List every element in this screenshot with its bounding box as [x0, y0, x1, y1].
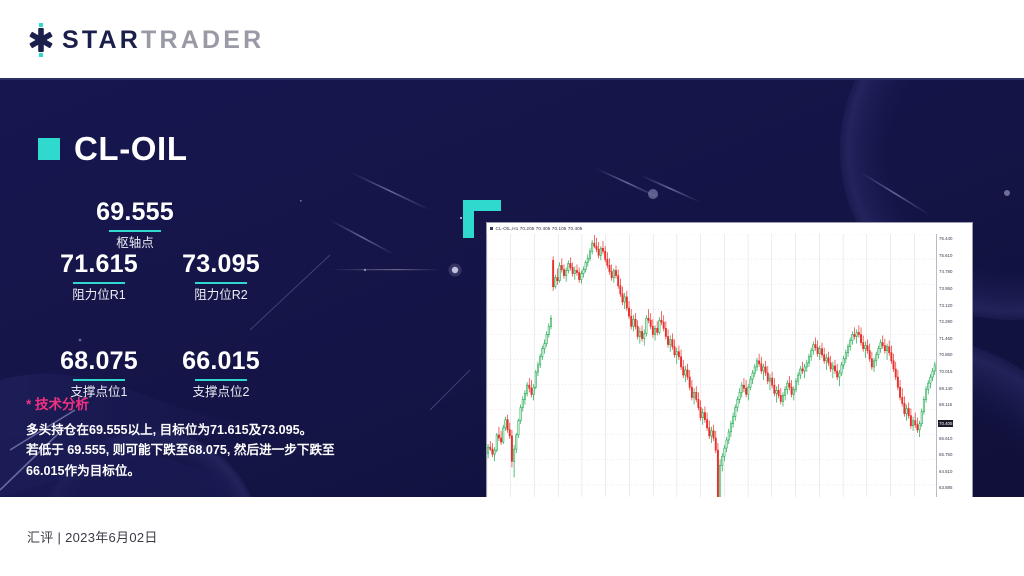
- pivot-underline: [109, 230, 161, 232]
- level-value: 68.075: [38, 347, 160, 376]
- price-tick: 63.885: [939, 486, 952, 490]
- price-tick: 69.140: [939, 387, 952, 391]
- instrument-title-row: CL-OIL: [38, 132, 188, 165]
- analysis-line-2: 若低于 69.555, 则可能下跌至68.075, 然后进一步下跌至: [26, 440, 396, 460]
- star-asterisk-icon: [26, 23, 56, 57]
- chart-header-text: CL-OIL,H1 70.205 70.405 70.105 70.405: [496, 226, 583, 231]
- chart-window[interactable]: CL-OIL,H1 70.205 70.405 70.105 70.405 76…: [486, 222, 973, 497]
- price-axis[interactable]: 76.44075.61074.78073.95073.12072.29071.4…: [936, 234, 972, 497]
- analysis-title: * 技术分析: [26, 393, 396, 413]
- level-underline: [73, 282, 125, 284]
- price-tick: 71.460: [939, 337, 952, 341]
- level-value: 73.095: [160, 250, 282, 279]
- analysis-line-1: 多头持仓在69.555以上, 目标位为71.615及73.095。: [26, 420, 396, 440]
- analysis-line-3: 66.015作为目标位。: [26, 461, 396, 481]
- chart-window-dot-icon: [490, 227, 493, 230]
- level-cell-s1: 68.075 支撑点位1: [38, 347, 160, 400]
- footer-date: 汇评 | 2023年6月02日: [27, 527, 158, 546]
- price-tick: 70.860: [939, 353, 952, 357]
- analysis-body: 多头持仓在69.555以上, 目标位为71.615及73.095。 若低于 69…: [26, 420, 396, 481]
- price-tick: 74.780: [939, 270, 952, 274]
- candlestick-plot[interactable]: [487, 234, 938, 497]
- price-tick: 75.610: [939, 254, 952, 258]
- price-tick: 64.510: [939, 470, 952, 474]
- pivot-label: 枢轴点: [60, 236, 210, 251]
- page-header: STARTRADER: [0, 0, 1024, 80]
- price-tick: 65.750: [939, 453, 952, 457]
- page-title: CL-OIL: [74, 132, 188, 165]
- level-cell-r1: 71.615 阻力位R1: [38, 250, 160, 303]
- price-tick: 72.290: [939, 320, 952, 324]
- level-label: 阻力位R1: [38, 288, 160, 303]
- support-row: 68.075 支撑点位1 66.015 支撑点位2: [38, 347, 298, 400]
- page-footer: 汇评 | 2023年6月02日: [0, 497, 1024, 576]
- resistance-row: 71.615 阻力位R1 73.095 阻力位R2: [38, 250, 298, 303]
- candlestick-svg: [487, 234, 938, 497]
- levels-grid: 71.615 阻力位R1 73.095 阻力位R2 68.075 支撑点位1 6…: [38, 250, 298, 400]
- level-underline: [195, 379, 247, 381]
- level-underline: [195, 282, 247, 284]
- level-value: 71.615: [38, 250, 160, 279]
- pivot-block: 69.555 枢轴点: [60, 198, 210, 251]
- price-tick: 73.120: [939, 304, 952, 308]
- brand-name: STARTRADER: [62, 28, 264, 53]
- price-tick: 73.950: [939, 287, 952, 291]
- price-tick: 66.610: [939, 437, 952, 441]
- price-tick: 70.015: [939, 370, 952, 374]
- brand-logo: STARTRADER: [26, 23, 264, 57]
- pivot-value: 69.555: [60, 198, 210, 227]
- main-panel: CL-OIL 69.555 枢轴点 71.615 阻力位R1 73.095 阻力…: [0, 80, 1024, 497]
- level-cell-s2: 66.015 支撑点位2: [160, 347, 282, 400]
- brand-name-bold: STAR: [62, 26, 141, 54]
- chart-window-header: CL-OIL,H1 70.205 70.405 70.105 70.405: [487, 223, 972, 234]
- technical-analysis-block: * 技术分析 多头持仓在69.555以上, 目标位为71.615及73.095。…: [26, 393, 396, 481]
- level-value: 66.015: [160, 347, 282, 376]
- brand-name-light: TRADER: [141, 26, 264, 54]
- level-cell-r2: 73.095 阻力位R2: [160, 250, 282, 303]
- level-underline: [73, 379, 125, 381]
- current-price-tag: 70.405: [938, 420, 953, 427]
- level-label: 阻力位R2: [160, 288, 282, 303]
- price-tick: 68.115: [939, 403, 952, 407]
- price-tick: 76.440: [939, 237, 952, 241]
- title-bullet-square: [38, 138, 60, 160]
